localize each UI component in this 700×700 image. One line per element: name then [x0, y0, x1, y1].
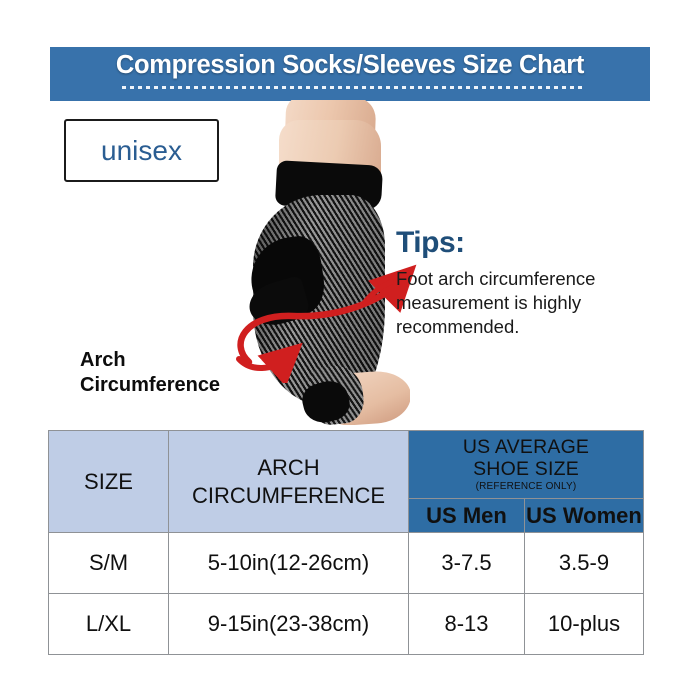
cell-arch: 9-15in(23-38cm) — [169, 594, 409, 655]
table-row: S/M 5-10in(12-26cm) 3-7.5 3.5-9 — [49, 533, 644, 594]
tips-body-text: Foot arch circumference measurement is h… — [396, 267, 658, 339]
table-row: L/XL 9-15in(23-38cm) 8-13 10-plus — [49, 594, 644, 655]
shoe-size-line1: US AVERAGE — [409, 436, 643, 458]
column-header-us-men: US Men — [409, 499, 525, 533]
column-header-us-average-shoe-size: US AVERAGE SHOE SIZE (REFERENCE ONLY) — [409, 431, 644, 499]
title-underline-dots — [122, 86, 582, 89]
cell-size: L/XL — [49, 594, 169, 655]
title-banner: Compression Socks/Sleeves Size Chart — [50, 47, 650, 101]
page-title: Compression Socks/Sleeves Size Chart — [50, 51, 650, 80]
cell-us-women: 10-plus — [525, 594, 644, 655]
unisex-badge: unisex — [64, 119, 219, 182]
column-header-arch-line1: ARCH — [169, 454, 408, 482]
tips-heading: Tips: — [396, 226, 465, 260]
column-header-arch-circumference: ARCH CIRCUMFERENCE — [169, 431, 409, 533]
size-chart-page: Compression Socks/Sleeves Size Chart uni… — [0, 0, 700, 700]
cell-size: S/M — [49, 533, 169, 594]
shoe-size-note: (REFERENCE ONLY) — [409, 480, 643, 493]
cell-us-men: 8-13 — [409, 594, 525, 655]
column-header-us-women: US Women — [525, 499, 644, 533]
unisex-badge-label: unisex — [101, 135, 182, 167]
cell-us-men: 3-7.5 — [409, 533, 525, 594]
shoe-size-line2: SHOE SIZE — [409, 458, 643, 480]
arch-circumference-caption: Arch Circumference — [80, 348, 270, 398]
column-header-arch-line2: CIRCUMFERENCE — [169, 482, 408, 510]
table-header-row: SIZE ARCH CIRCUMFERENCE US AVERAGE SHOE … — [49, 431, 644, 499]
cell-us-women: 3.5-9 — [525, 533, 644, 594]
size-chart-table: SIZE ARCH CIRCUMFERENCE US AVERAGE SHOE … — [48, 430, 644, 655]
column-header-size: SIZE — [49, 431, 169, 533]
cell-arch: 5-10in(12-26cm) — [169, 533, 409, 594]
